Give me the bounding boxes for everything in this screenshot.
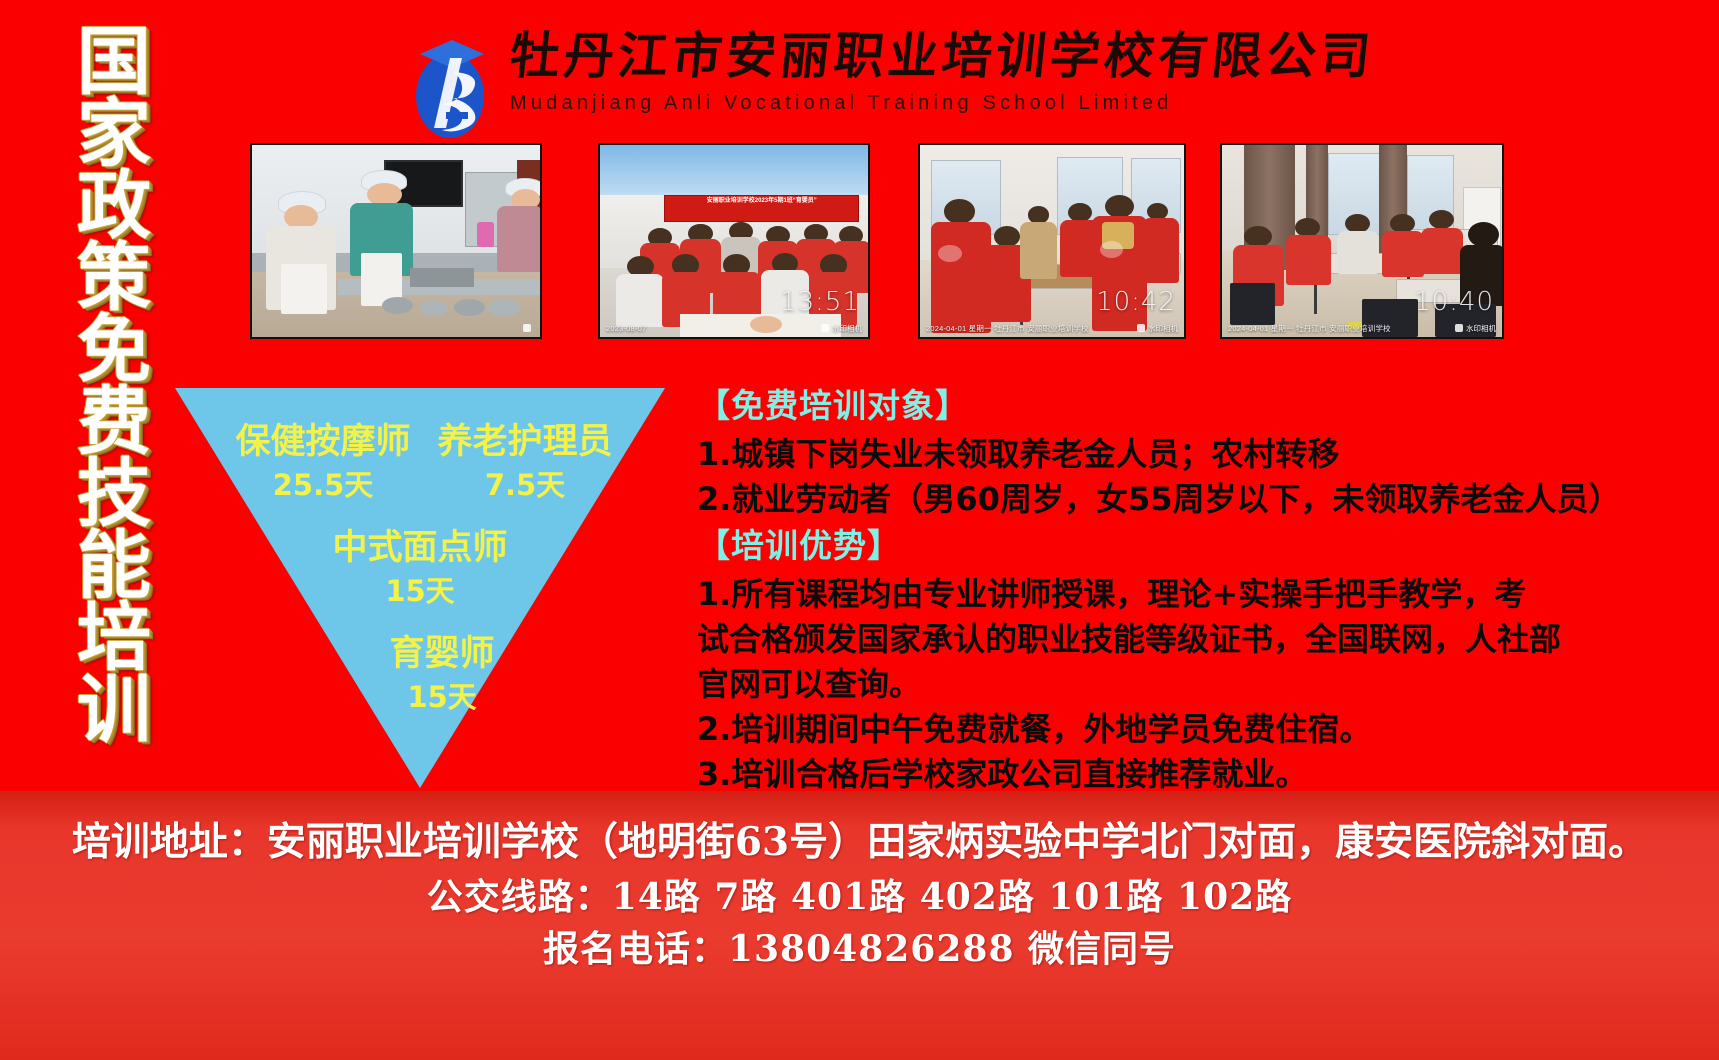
photo-classroom-lecture: 2024-04-01 星期一 牡丹江市 安丽职业培训学校 水印相机 10:40	[1220, 143, 1504, 339]
photo-watermark-label: 水印相机	[1137, 323, 1178, 334]
photo-watermark-date: 2023-08-07	[606, 324, 646, 333]
course-duration-2: 7.5天	[425, 468, 625, 502]
course-triangle: 保健按摩师 25.5天 养老护理员 7.5天 中式面点师 15天 育婴师 15天	[175, 388, 665, 788]
photo-timestamp: 10:42	[1096, 289, 1176, 315]
footer-bus-lines: 公交线路：14路 7路 401路 402路 101路 102路	[0, 871, 1719, 923]
photo-timestamp: 13:51	[780, 289, 860, 315]
vertical-title-char: 免	[77, 314, 151, 386]
course-duration-1: 25.5天	[223, 468, 423, 502]
watermark-camera-icon	[523, 324, 531, 332]
graduation-cap-logo-icon	[400, 28, 504, 140]
course-name-3: 中式面点师	[320, 528, 520, 568]
benefit-line-3: 官网可以查询。	[697, 662, 1707, 707]
photo-watermark-label: 水印相机	[1455, 323, 1496, 334]
section-title-benefits: 【培训优势】	[697, 522, 1707, 570]
photo-banner-text: 安丽职业培训学校2023年5期1班“育婴员”	[665, 196, 858, 206]
vertical-title-char: 能	[77, 530, 151, 602]
course-duration-3: 15天	[320, 574, 520, 608]
benefit-line-2: 试合格颁发国家承认的职业技能等级证书，全国联网，人社部	[697, 617, 1707, 662]
brand-name-cn: 牡丹江市安丽职业培训学校有限公司	[507, 26, 1303, 86]
photo-watermark-bar: 2024-04-01 星期一 牡丹江市 安丽职业培训学校 水印相机	[1222, 319, 1502, 337]
vertical-title-char: 政	[77, 170, 151, 242]
photo-watermark-bar: 2023-08-07 水印相机	[600, 319, 868, 337]
footer: 培训地址：安丽职业培训学校（地明街63号）田家炳实验中学北门对面，康安医院斜对面…	[0, 791, 1719, 1060]
target-line-1: 1.城镇下岗失业未领取养老金人员；农村转移	[697, 432, 1707, 477]
photo-nursing-practice: 2024-04-01 星期一 牡丹江市 安丽职业培训学校 水印相机 10:42	[918, 143, 1186, 339]
vertical-title-char: 家	[77, 98, 151, 170]
course-name-1: 保健按摩师	[223, 422, 423, 462]
photo-watermark-label: 水印相机	[821, 323, 862, 334]
info-column: 【免费培训对象】 1.城镇下岗失业未领取养老金人员；农村转移 2.就业劳动者（男…	[697, 382, 1707, 797]
photo-strip: 安丽职业培训学校2023年5期1班“育婴员”	[250, 143, 1500, 339]
course-duration-4: 15天	[362, 680, 522, 714]
photo-watermark-bar: 2024-04-01 星期一 牡丹江市 安丽职业培训学校 水印相机	[920, 319, 1184, 337]
photo-pastry-class	[250, 143, 542, 339]
photo-watermark-date: 2024-04-01 星期一 牡丹江市 安丽职业培训学校	[926, 323, 1089, 334]
watermark-camera-icon	[1455, 324, 1463, 332]
course-name-2: 养老护理员	[425, 422, 625, 462]
benefit-line-1: 1.所有课程均由专业讲师授课，理论+实操手把手教学，考	[697, 572, 1707, 617]
vertical-title-char: 培	[77, 602, 151, 674]
photo-watermark-label	[523, 324, 534, 332]
footer-phone[interactable]: 报名电话：13804826288 微信同号	[0, 923, 1719, 975]
header: 牡丹江市安丽职业培训学校有限公司 Mudanjiang Anli Vocatio…	[390, 22, 1300, 142]
benefit-line-4: 2.培训期间中午免费就餐，外地学员免费住宿。	[697, 707, 1707, 752]
target-line-2: 2.就业劳动者（男60周岁，女55周岁以下，未领取养老金人员）	[697, 477, 1707, 522]
vertical-title-char: 训	[77, 674, 151, 746]
brand-name-en: Mudanjiang Anli Vocational Training Scho…	[510, 90, 1300, 116]
section-title-target: 【免费培训对象】	[697, 382, 1707, 430]
watermark-camera-icon	[821, 324, 829, 332]
vertical-title-char: 技	[77, 458, 151, 530]
course-name-4: 育婴师	[362, 634, 522, 674]
poster-root: 国 家 政 策 免 费 技 能 培 训 牡丹江市安丽职业培训学校有限公司 Mud…	[0, 0, 1719, 1060]
photo-timestamp: 10:40	[1414, 289, 1494, 315]
photo-banner: 安丽职业培训学校2023年5期1班“育婴员”	[664, 195, 859, 222]
watermark-camera-icon	[1137, 324, 1145, 332]
photo-watermark-date: 2024-04-01 星期一 牡丹江市 安丽职业培训学校	[1228, 323, 1391, 334]
vertical-title: 国 家 政 策 免 费 技 能 培 训	[62, 26, 166, 756]
vertical-title-char: 国	[77, 26, 151, 98]
brand-block: 牡丹江市安丽职业培训学校有限公司 Mudanjiang Anli Vocatio…	[510, 26, 1300, 116]
footer-address: 培训地址：安丽职业培训学校（地明街63号）田家炳实验中学北门对面，康安医院斜对面…	[0, 813, 1719, 871]
vertical-title-char: 费	[77, 386, 151, 458]
photo-group-2023: 安丽职业培训学校2023年5期1班“育婴员”	[598, 143, 870, 339]
vertical-title-char: 策	[77, 242, 151, 314]
photo-watermark-bar	[252, 319, 540, 337]
